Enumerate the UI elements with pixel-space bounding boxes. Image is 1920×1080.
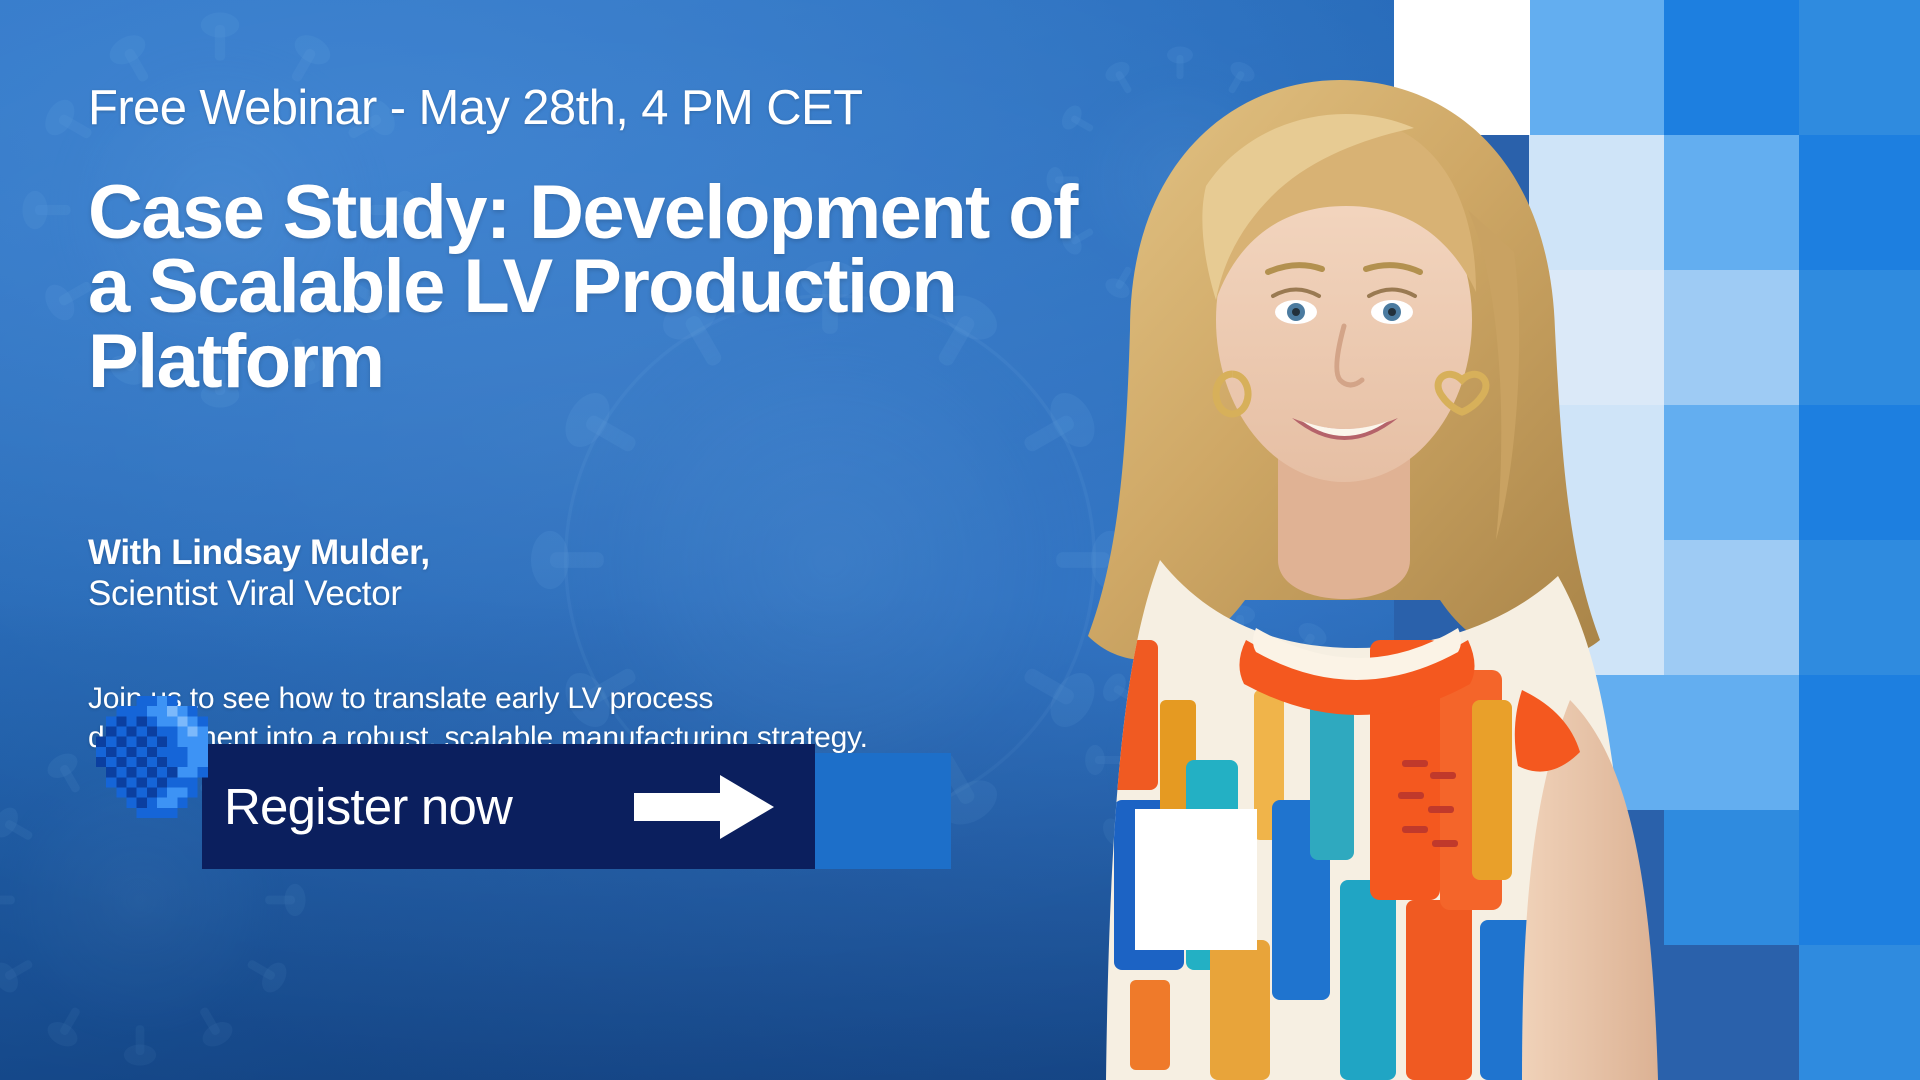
description-line-1: Join us to see how to translate early LV… <box>88 679 1088 718</box>
register-now-button[interactable]: Register now <box>88 744 863 869</box>
headline-line-1: Case Study: Development of <box>88 176 1178 250</box>
checker-cell <box>1799 405 1920 540</box>
checker-cell <box>1799 540 1920 675</box>
speaker-info: With Lindsay Mulder, Scientist Viral Vec… <box>88 532 430 615</box>
banner-content: Free Webinar - May 28th, 4 PM CET Case S… <box>88 0 1208 1080</box>
headline-line-3: Platform <box>88 325 1178 399</box>
webinar-kicker: Free Webinar - May 28th, 4 PM CET <box>88 80 862 136</box>
headline-line-2: a Scalable LV Production <box>88 250 1178 324</box>
checker-cell <box>1799 675 1920 810</box>
speaker-role: Scientist Viral Vector <box>88 573 430 614</box>
pixelated-sphere-logo-icon <box>96 696 218 818</box>
webinar-promo-banner: Free Webinar - May 28th, 4 PM CET Case S… <box>0 0 1920 1080</box>
checker-cell <box>1799 270 1920 405</box>
cta-accent-block <box>815 753 951 869</box>
checker-cell <box>1799 135 1920 270</box>
speaker-name: With Lindsay Mulder, <box>88 532 430 573</box>
page-title: Case Study: Development of a Scalable LV… <box>88 176 1178 399</box>
arrow-right-icon <box>634 775 774 839</box>
checker-cell <box>1799 810 1920 945</box>
register-now-label: Register now <box>224 744 512 869</box>
checker-cell <box>1799 945 1920 1080</box>
checker-cell <box>1799 0 1920 135</box>
